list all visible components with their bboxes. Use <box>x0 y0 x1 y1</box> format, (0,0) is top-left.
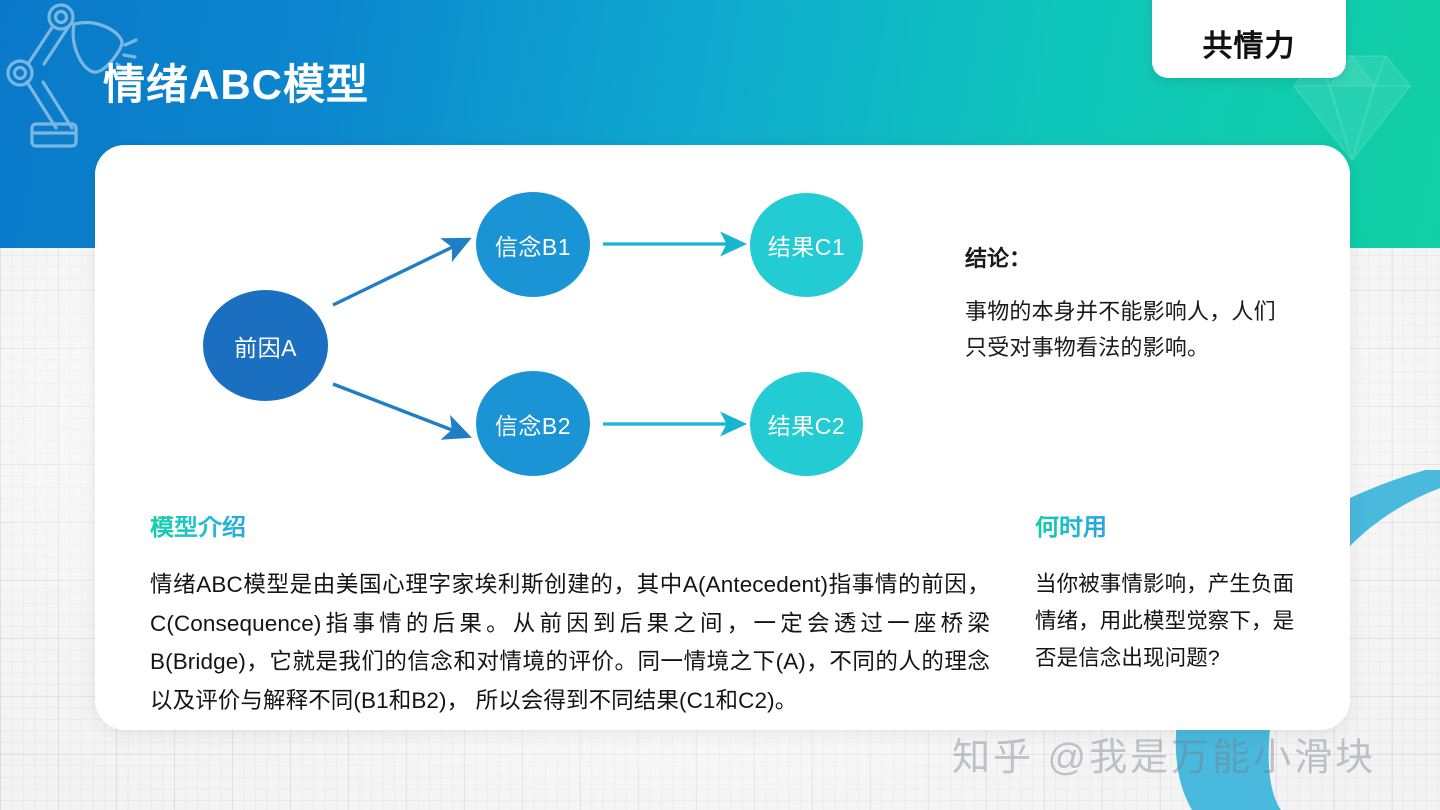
page-title: 情绪ABC模型 <box>103 64 369 106</box>
section-when-to-use-heading: 何时用 <box>1035 516 1107 540</box>
diagram-node-c2: 结果C2 <box>750 372 863 476</box>
section-model-intro: 模型介绍 情绪ABC模型是由美国心理字家埃利斯创建的，其中A(Anteceden… <box>150 516 990 721</box>
diagram-node-a: 前因A <box>203 290 328 401</box>
corner-badge-label: 共情力 <box>1203 32 1296 62</box>
corner-badge: 共情力 <box>1152 0 1346 78</box>
conclusion-body: 事物的本身并不能影响人，人们只受对事物看法的影响。 <box>965 294 1285 367</box>
conclusion-block: 结论： 事物的本身并不能影响人，人们只受对事物看法的影响。 <box>965 248 1285 367</box>
diagram-node-b2: 信念B2 <box>476 371 590 476</box>
zhihu-watermark: 知乎 @我是万能小滑块 <box>952 726 1376 781</box>
diagram-node-b1: 信念B1 <box>476 192 590 297</box>
section-when-to-use-body: 当你被事情影响，产生负面情绪，用此模型觉察下，是否是信念出现问题? <box>1035 566 1305 677</box>
section-when-to-use: 何时用 当你被事情影响，产生负面情绪，用此模型觉察下，是否是信念出现问题? <box>1035 516 1305 677</box>
edge-a-b2 <box>333 384 465 435</box>
slide-root: 情绪ABC模型 共情力 前因A 信念B1 信念B2 结果C1 结果 <box>0 0 1440 810</box>
abc-model-diagram: 前因A 信念B1 信念B2 结果C1 结果C2 <box>95 145 975 505</box>
section-model-intro-body: 情绪ABC模型是由美国心理字家埃利斯创建的，其中A(Antecedent)指事情… <box>150 566 990 721</box>
edge-a-b1 <box>333 241 465 305</box>
conclusion-title: 结论： <box>965 248 1285 270</box>
diagram-node-c1: 结果C1 <box>750 193 863 297</box>
section-model-intro-heading: 模型介绍 <box>150 516 246 540</box>
